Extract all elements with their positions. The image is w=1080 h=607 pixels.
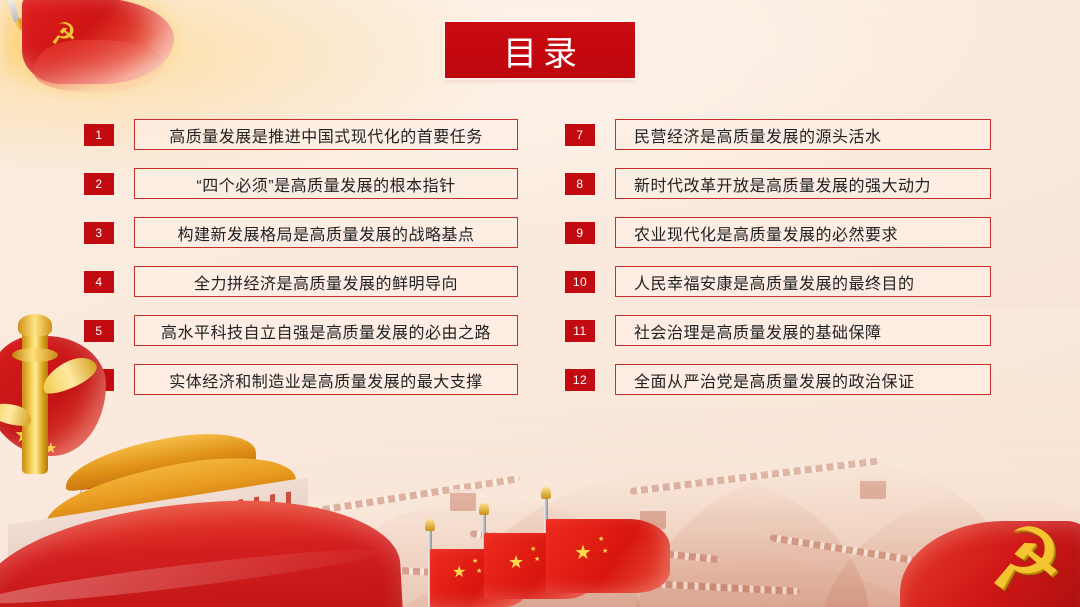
- toc-label: 民营经济是高质量发展的源头活水: [634, 123, 882, 147]
- pillar-cap: [18, 314, 52, 336]
- toc-item-11[interactable]: 11 社会治理是高质量发展的基础保障: [565, 314, 991, 347]
- star-icon: ★: [530, 546, 536, 553]
- hammer-sickle-icon: ☭: [50, 18, 86, 52]
- toc-item-2[interactable]: 2 “四个必须”是高质量发展的根本指针: [84, 167, 518, 200]
- toc-label-box[interactable]: “四个必须”是高质量发展的根本指针: [134, 168, 518, 199]
- toc-number-badge: 4: [84, 271, 114, 293]
- toc-left-column: 1 高质量发展是推进中国式现代化的首要任务 2 “四个必须”是高质量发展的根本指…: [84, 118, 518, 396]
- toc-label-box[interactable]: 社会治理是高质量发展的基础保障: [615, 315, 991, 346]
- toc-label: 社会治理是高质量发展的基础保障: [634, 319, 882, 343]
- star-icon: ★: [602, 548, 608, 555]
- flagpole-finial: [479, 503, 489, 515]
- toc-label-box[interactable]: 农业现代化是高质量发展的必然要求: [615, 217, 991, 248]
- party-flag-illustration: ☭: [0, 0, 204, 110]
- toc-label-box[interactable]: 高质量发展是推进中国式现代化的首要任务: [134, 119, 518, 150]
- pillar-ring: [12, 348, 58, 362]
- page-title: 目录: [497, 26, 583, 75]
- star-icon: ★: [574, 543, 592, 563]
- toc-label: 全力拼经济是高质量发展的鲜明导向: [194, 270, 458, 294]
- star-icon: ★: [534, 556, 540, 563]
- toc-number-badge: 10: [565, 271, 595, 293]
- toc-label: “四个必须”是高质量发展的根本指针: [196, 172, 455, 196]
- tiananmen-gate-illustration: 中华人民共和国万岁 世界人民大团结万岁: [0, 397, 340, 607]
- star-icon: ★: [598, 536, 604, 543]
- china-flag: [546, 519, 670, 593]
- toc-number-badge: 3: [84, 222, 114, 244]
- star-icon: ★: [452, 565, 466, 581]
- toc-label: 农业现代化是高质量发展的必然要求: [634, 221, 898, 245]
- toc-number-badge: 2: [84, 173, 114, 195]
- toc-number-badge: 7: [565, 124, 595, 146]
- page-title-banner: 目录: [445, 22, 635, 78]
- toc-label: 高质量发展是推进中国式现代化的首要任务: [169, 123, 483, 147]
- star-icon: ★: [508, 553, 524, 571]
- toc-label: 构建新发展格局是高质量发展的战略基点: [177, 221, 474, 245]
- toc-label-box[interactable]: 实体经济和制造业是高质量发展的最大支撑: [134, 364, 518, 395]
- toc-item-3[interactable]: 3 构建新发展格局是高质量发展的战略基点: [84, 216, 518, 249]
- star-icon: ★: [472, 558, 478, 565]
- toc-label: 新时代改革开放是高质量发展的强大动力: [634, 172, 931, 196]
- toc-right-column: 7 民营经济是高质量发展的源头活水 8 新时代改革开放是高质量发展的强大动力 9…: [565, 118, 991, 396]
- toc-label-box[interactable]: 全力拼经济是高质量发展的鲜明导向: [134, 266, 518, 297]
- star-icon: ★: [476, 568, 482, 575]
- toc-label-box[interactable]: 高水平科技自立自强是高质量发展的必由之路: [134, 315, 518, 346]
- toc-number-badge: 11: [565, 320, 595, 342]
- toc-item-6[interactable]: 6 实体经济和制造业是高质量发展的最大支撑: [84, 363, 518, 396]
- ribbon-highlight: [0, 541, 381, 607]
- national-flags-illustration: ★ ★ ★ ★ ★ ★ ★ ★ ★: [418, 497, 668, 607]
- toc-label: 实体经济和制造业是高质量发展的最大支撑: [169, 368, 483, 392]
- toc-label: 全面从严治党是高质量发展的政治保证: [634, 368, 915, 392]
- toc-number-badge: 8: [565, 173, 595, 195]
- toc-label-box[interactable]: 全面从严治党是高质量发展的政治保证: [615, 364, 991, 395]
- toc-number-badge: 1: [84, 124, 114, 146]
- toc-item-10[interactable]: 10 人民幸福安康是高质量发展的最终目的: [565, 265, 991, 298]
- slide-table-of-contents: ☭ 目录 1 高质量发展是推进中国式现代化的首要任务 2 “四个必须”是高质量发…: [0, 0, 1080, 607]
- toc-item-12[interactable]: 12 全面从严治党是高质量发展的政治保证: [565, 363, 991, 396]
- toc-item-8[interactable]: 8 新时代改革开放是高质量发展的强大动力: [565, 167, 991, 200]
- toc-label-box[interactable]: 新时代改革开放是高质量发展的强大动力: [615, 168, 991, 199]
- toc-number-badge: 9: [565, 222, 595, 244]
- flagpole-finial: [541, 487, 551, 499]
- toc-item-4[interactable]: 4 全力拼经济是高质量发展的鲜明导向: [84, 265, 518, 298]
- toc-item-1[interactable]: 1 高质量发展是推进中国式现代化的首要任务: [84, 118, 518, 151]
- toc-number-badge: 12: [565, 369, 595, 391]
- toc-label-box[interactable]: 人民幸福安康是高质量发展的最终目的: [615, 266, 991, 297]
- toc-item-9[interactable]: 9 农业现代化是高质量发展的必然要求: [565, 216, 991, 249]
- toc-label: 高水平科技自立自强是高质量发展的必由之路: [161, 319, 491, 343]
- party-emblem-illustration: ☭: [910, 497, 1080, 607]
- toc-label-box[interactable]: 民营经济是高质量发展的源头活水: [615, 119, 991, 150]
- toc-label-box[interactable]: 构建新发展格局是高质量发展的战略基点: [134, 217, 518, 248]
- toc-label: 人民幸福安康是高质量发展的最终目的: [634, 270, 915, 294]
- flagpole-finial: [425, 519, 435, 531]
- hammer-sickle-icon: ☭: [987, 517, 1064, 603]
- toc-item-5[interactable]: 5 高水平科技自立自强是高质量发展的必由之路: [84, 314, 518, 347]
- toc-item-7[interactable]: 7 民营经济是高质量发展的源头活水: [565, 118, 991, 151]
